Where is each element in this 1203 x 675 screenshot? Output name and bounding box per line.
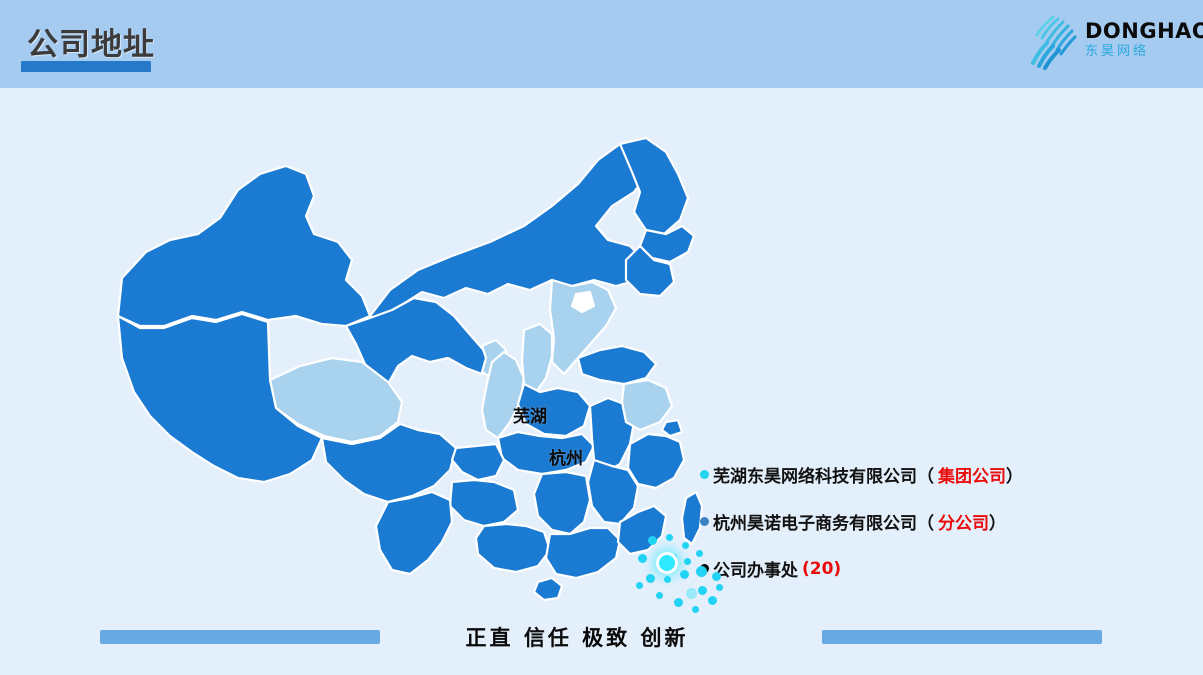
legend-open-paren: （: [917, 462, 934, 487]
province-guangxi: [476, 524, 550, 572]
legend-item-offices: 公司办事处 (20): [700, 556, 1170, 581]
map-marker-office[interactable]: [692, 606, 699, 613]
legend-note: 分公司: [938, 509, 989, 534]
logo-sub: 东昊网络: [1085, 43, 1189, 61]
province-guangdong: [546, 528, 620, 578]
city-label-hangzhou: 杭州: [549, 444, 583, 469]
title-underline: [21, 61, 151, 72]
map-marker-office[interactable]: [674, 598, 683, 607]
map-marker-office[interactable]: [696, 550, 703, 557]
company-logo: DONGHAO 东昊网络: [1023, 8, 1189, 74]
china-map-svg: [100, 130, 720, 610]
province-hainan: [534, 578, 562, 600]
legend-close-paren: ）: [989, 509, 1006, 534]
province-yunnan: [376, 492, 452, 574]
china-map: [100, 130, 720, 610]
province-xinjiang: [118, 166, 370, 326]
logo-text: DONGHAO 东昊网络: [1085, 20, 1189, 61]
legend-label: 杭州昊诺电子商务有限公司: [713, 509, 917, 534]
legend-item-group-company: 芜湖东昊网络科技有限公司 （ 集团公司 ）: [700, 462, 1170, 487]
province-taiwan: [682, 492, 702, 544]
map-marker-office[interactable]: [648, 536, 657, 545]
map-marker-office[interactable]: [708, 596, 717, 605]
map-marker-office[interactable]: [696, 566, 707, 577]
map-marker-office-highlight[interactable]: [686, 588, 697, 599]
logo-name: DONGHAO: [1085, 20, 1189, 42]
province-shanxi: [522, 324, 552, 392]
feather-wing-icon: [1023, 10, 1085, 72]
legend-open-paren: （: [917, 509, 934, 534]
footer-bar-right: [822, 630, 1102, 644]
map-marker-headquarters[interactable]: [656, 552, 678, 574]
footer-bar-left: [100, 630, 380, 644]
map-marker-office[interactable]: [682, 542, 689, 549]
legend-bullet-icon: [700, 517, 709, 526]
map-marker-office[interactable]: [646, 574, 655, 583]
legend-bullet-icon: [700, 470, 709, 479]
map-marker-office[interactable]: [636, 582, 643, 589]
slide-root: 公司地址 DONGHAO 东昊网络: [0, 0, 1203, 675]
page-title: 公司地址: [27, 19, 155, 64]
province-guizhou: [450, 480, 518, 526]
province-shandong: [578, 346, 656, 384]
province-shanghai: [662, 420, 682, 436]
map-marker-office[interactable]: [712, 572, 721, 581]
map-marker-office[interactable]: [698, 586, 707, 595]
footer-slogan: 正直 信任 极致 创新: [452, 622, 702, 652]
province-hunan: [534, 472, 590, 534]
city-label-wuhu: 芜湖: [513, 402, 547, 427]
legend-close-paren: ）: [1006, 462, 1023, 487]
legend: 芜湖东昊网络科技有限公司 （ 集团公司 ） 杭州昊诺电子商务有限公司 （ 分公司…: [700, 462, 1170, 603]
province-zhejiang: [628, 434, 684, 488]
province-chongqing: [452, 444, 504, 480]
map-marker-office[interactable]: [684, 558, 691, 565]
map-marker-office[interactable]: [666, 534, 673, 541]
legend-label: 公司办事处: [713, 556, 798, 581]
map-marker-office[interactable]: [656, 592, 663, 599]
map-marker-office[interactable]: [664, 576, 671, 583]
province-jiangsu: [622, 380, 672, 430]
legend-item-branch-company: 杭州昊诺电子商务有限公司 （ 分公司 ）: [700, 509, 1170, 534]
legend-note: (20): [802, 559, 841, 579]
legend-note: 集团公司: [938, 462, 1006, 487]
map-marker-office[interactable]: [638, 554, 647, 563]
map-marker-office[interactable]: [680, 570, 689, 579]
legend-label: 芜湖东昊网络科技有限公司: [713, 462, 917, 487]
map-marker-office[interactable]: [716, 584, 723, 591]
